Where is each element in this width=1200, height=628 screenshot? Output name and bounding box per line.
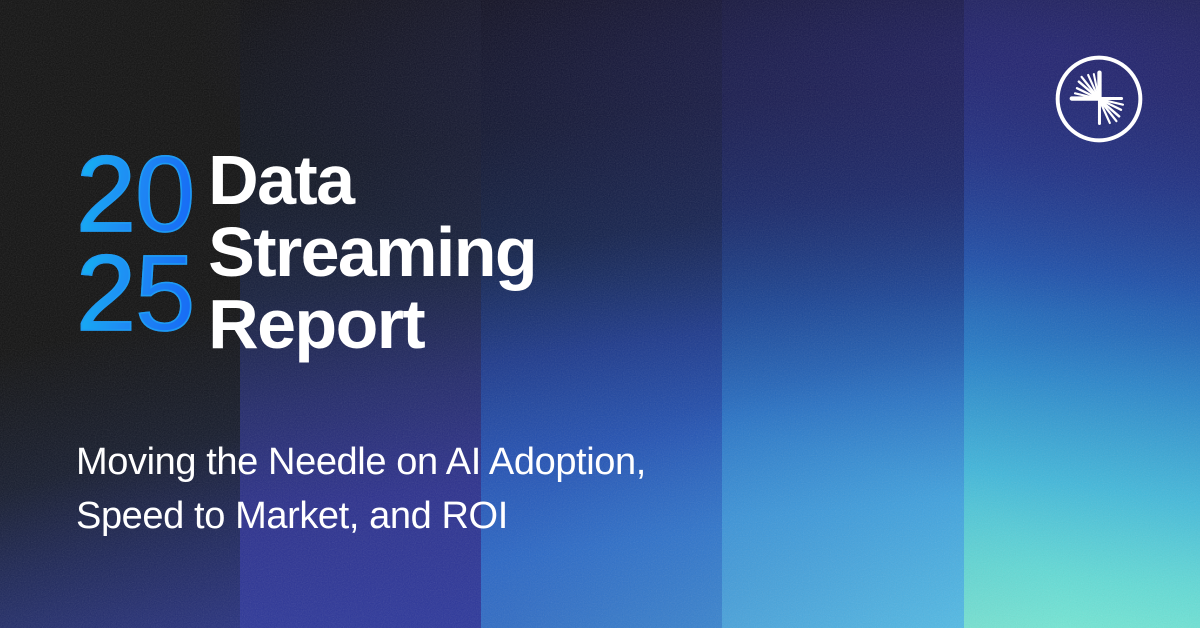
headline-line-2: Streaming [208, 216, 536, 288]
confluent-logo-icon [1052, 52, 1146, 146]
title-block: 20 25 Data Streaming Report [76, 142, 536, 360]
subtitle-line-2: Speed to Market, and ROI [76, 490, 646, 544]
year-stack: 20 25 [76, 142, 194, 343]
poster-content: 20 25 Data Streaming Report Moving the N… [0, 0, 1200, 628]
year-line-top: 20 [76, 144, 194, 243]
page-subtitle: Moving the Needle on AI Adoption, Speed … [76, 436, 646, 544]
year-line-bottom: 25 [76, 243, 194, 342]
headline-line-3: Report [208, 288, 536, 360]
page-title: Data Streaming Report [208, 142, 536, 360]
headline-line-1: Data [208, 144, 536, 216]
poster-canvas: 20 25 Data Streaming Report Moving the N… [0, 0, 1200, 628]
subtitle-line-1: Moving the Needle on AI Adoption, [76, 436, 646, 490]
